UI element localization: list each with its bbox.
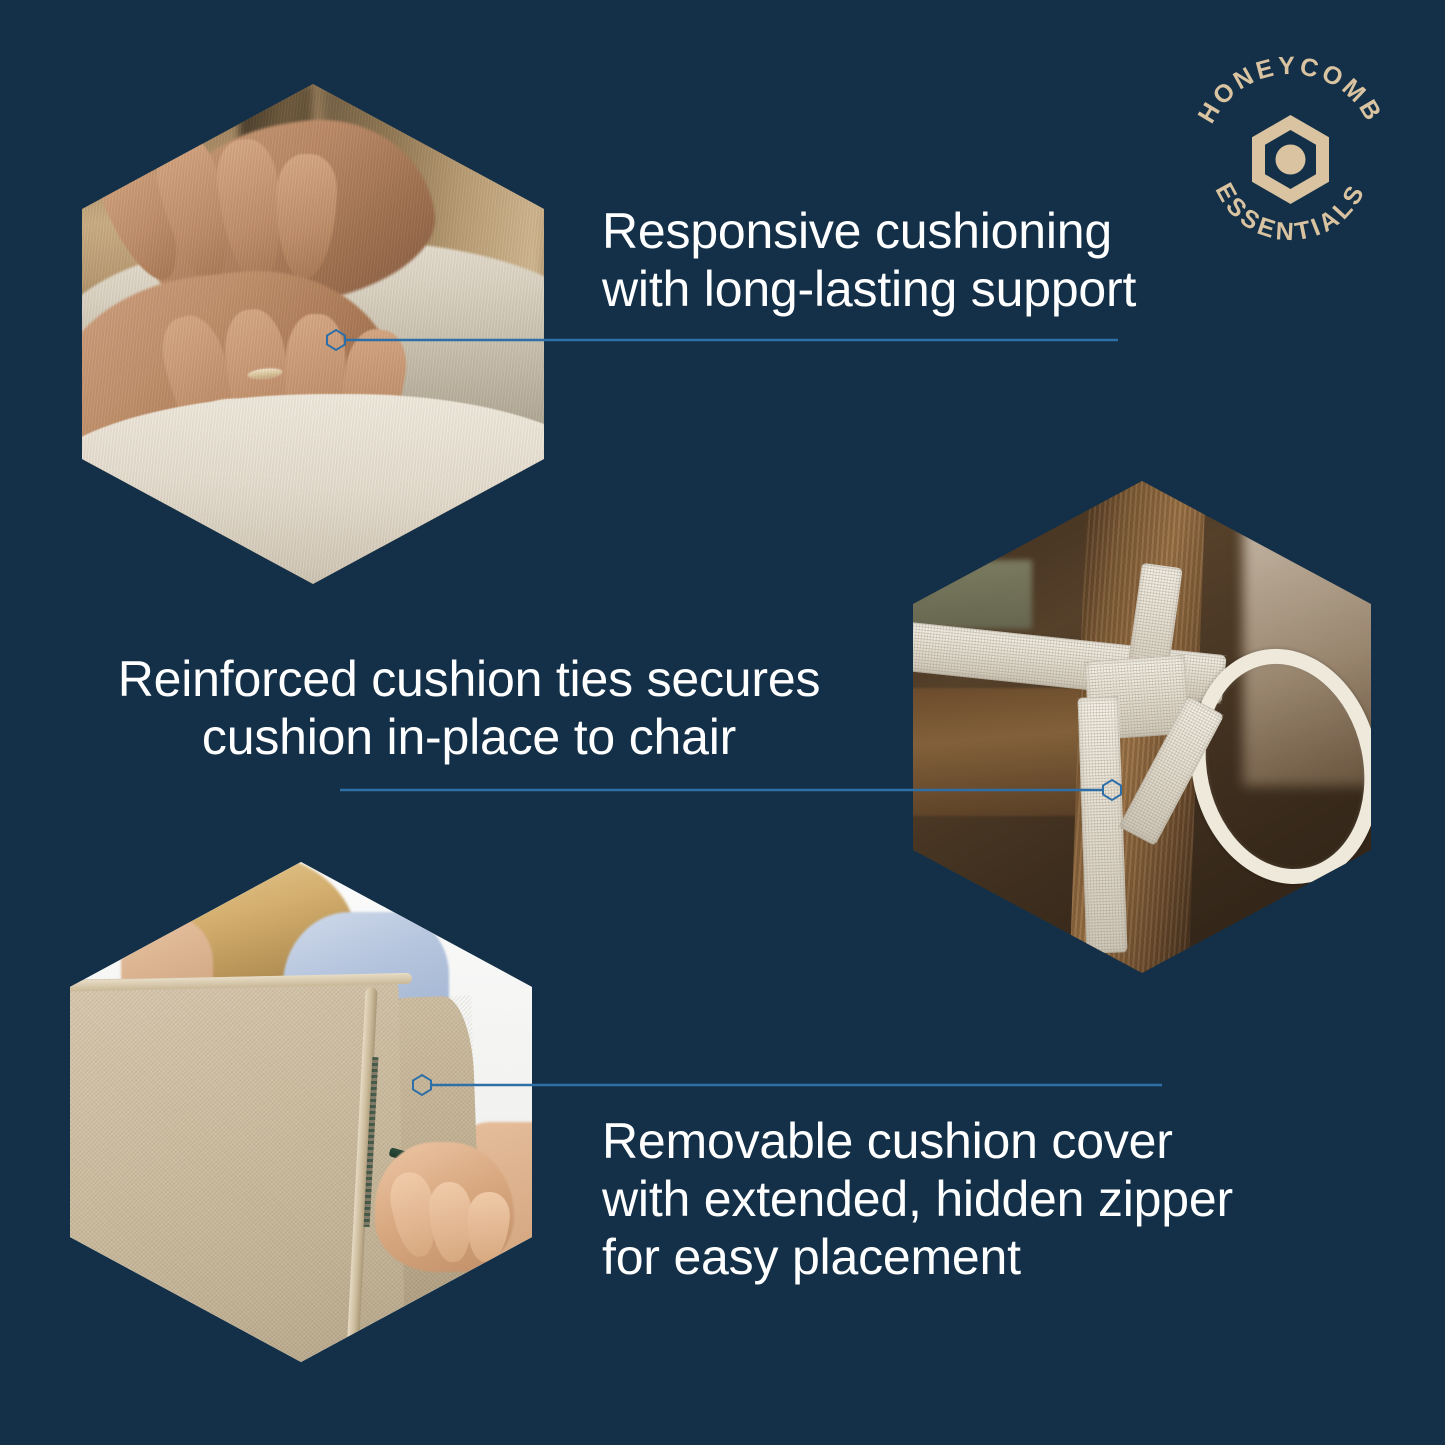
hexagon-marker-icon bbox=[327, 330, 345, 350]
callout-connector-3 bbox=[412, 1073, 1168, 1097]
feature-label-responsive-cushioning: Responsive cushioning with long-lasting … bbox=[602, 202, 1136, 318]
callout-connector-2 bbox=[340, 778, 1122, 802]
feature-label-reinforced-cushion-ties: Reinforced cushion ties secures cushion … bbox=[88, 650, 850, 766]
feature-image-zipper bbox=[70, 862, 532, 1362]
feature-image-tie-knot bbox=[913, 481, 1371, 973]
hexagon-marker-icon bbox=[413, 1075, 431, 1095]
hexagon-nut-icon bbox=[1252, 115, 1329, 204]
infographic-canvas: HONEYCOMB ESSENTIALS bbox=[0, 0, 1445, 1445]
feature-label-removable-cushion-cover: Removable cushion cover with extended, h… bbox=[602, 1112, 1233, 1286]
brand-badge: HONEYCOMB ESSENTIALS bbox=[1183, 52, 1398, 267]
hexagon-marker-icon bbox=[1103, 780, 1121, 800]
callout-connector-1 bbox=[326, 328, 1126, 352]
